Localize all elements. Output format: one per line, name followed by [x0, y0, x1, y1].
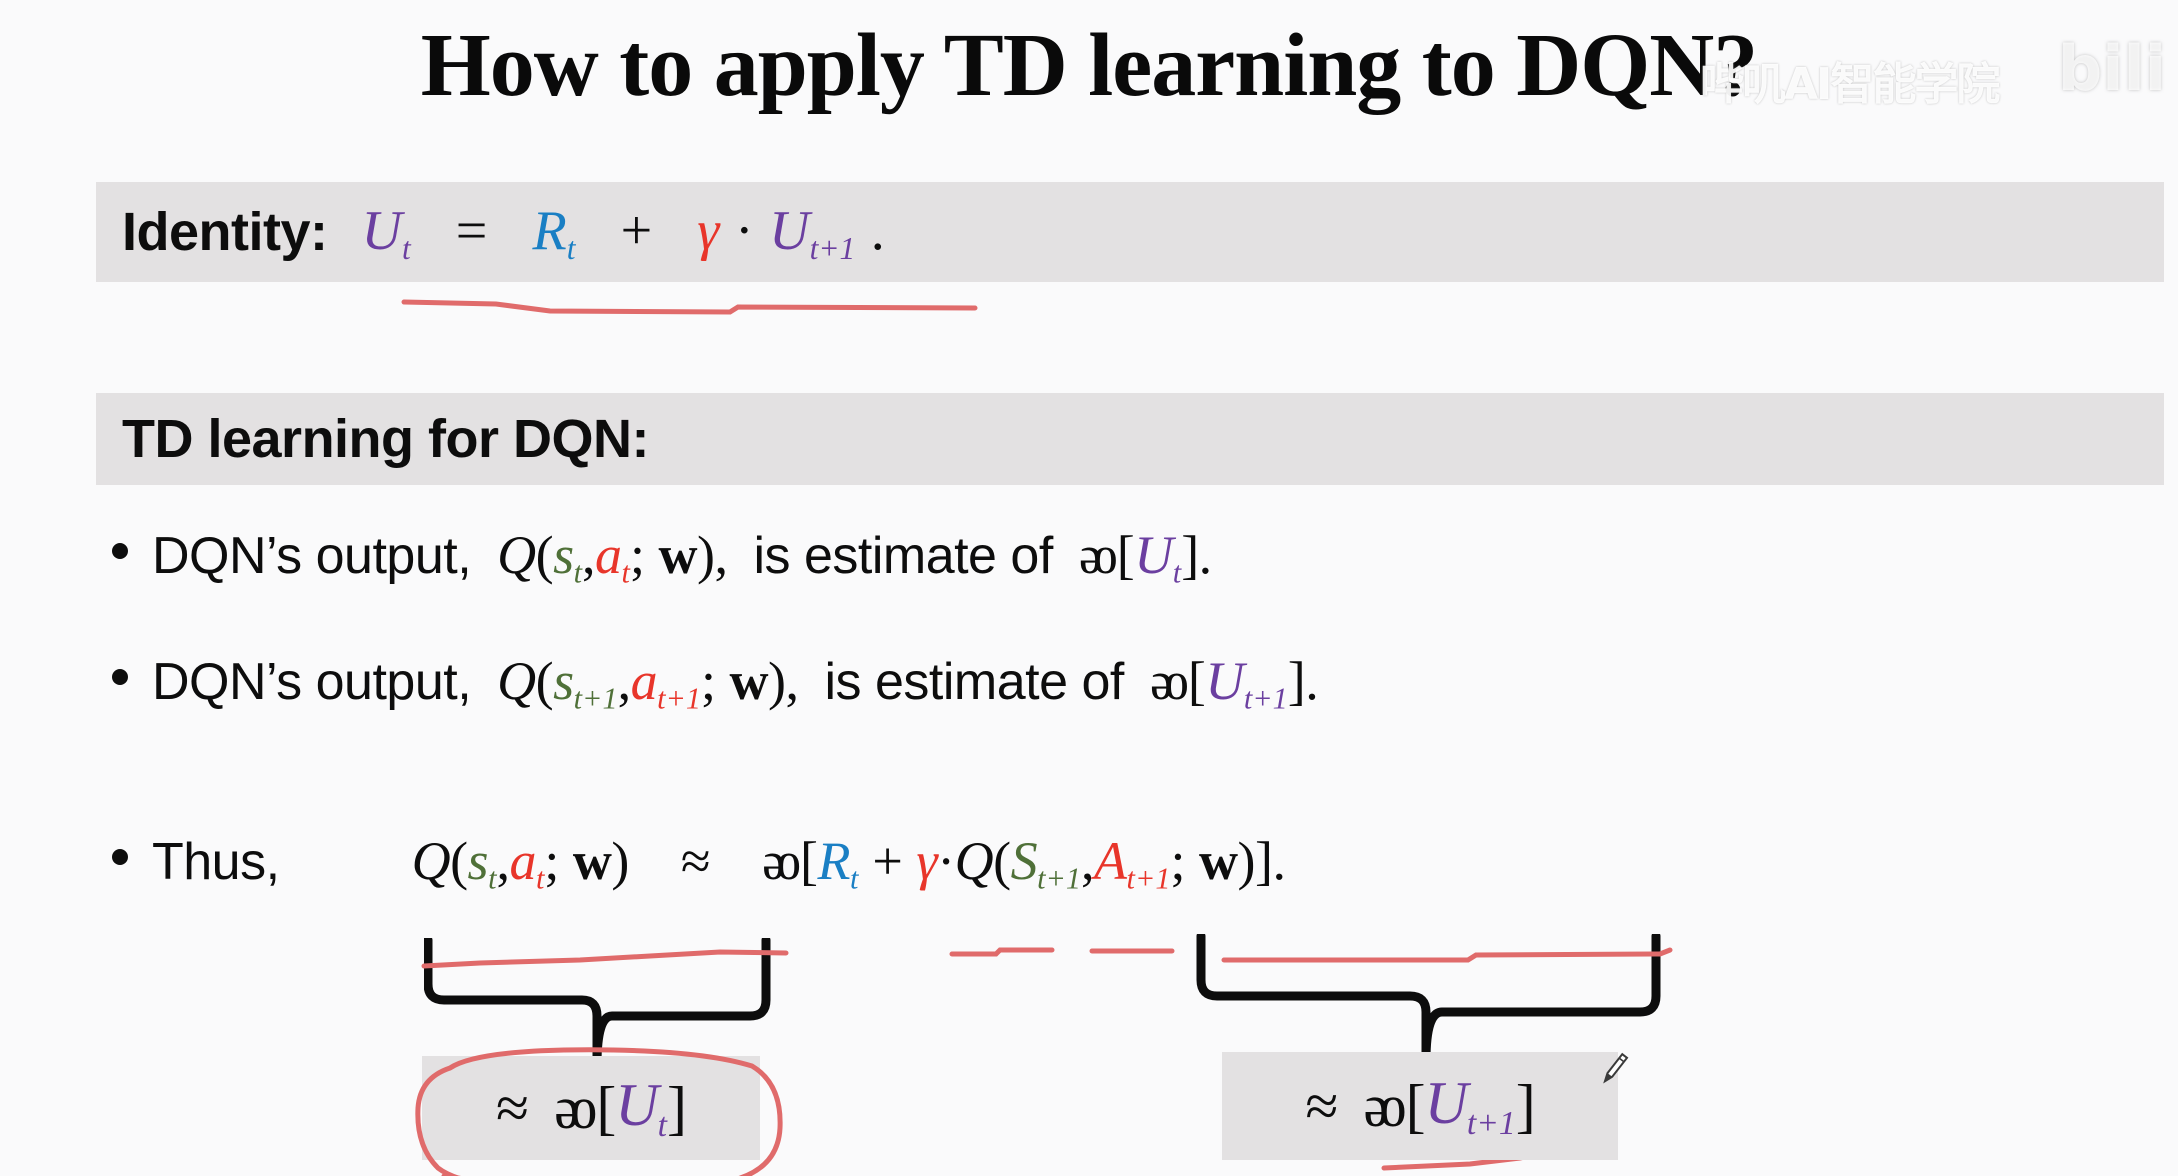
bullet-1-middle: is estimate of: [753, 526, 1052, 586]
right-approx: ≈: [1305, 1072, 1337, 1141]
identity-lhs-var: Ut: [362, 200, 411, 262]
identity-period: .: [871, 200, 885, 262]
underbrace-right: [1196, 934, 1666, 1064]
bullet-1-prefix: DQN’s output,: [152, 526, 471, 586]
left-close-bracket: ]: [667, 1074, 686, 1143]
bullet-1-expectation: ᴔ[Ut].: [1079, 524, 1212, 591]
bullet-2-middle: is estimate of: [824, 652, 1123, 712]
ink-underline-identity: [400, 292, 980, 328]
left-approx: ≈: [496, 1074, 528, 1143]
bullet-2-expectation: ᴔ[Ut+1].: [1150, 650, 1318, 717]
identity-banner: Identity: Ut = Rt + γ · Ut+1 .: [96, 182, 2164, 282]
bullet-marker-icon: [112, 543, 128, 559]
bullet-item-3: Thus, Q(st,at;w) ≈ ᴔ[Rt+γ·Q(St+1,At+1;w)…: [112, 830, 1285, 897]
td-learning-label: TD learning for DQN:: [122, 408, 649, 470]
right-expectation: ᴔ: [1363, 1072, 1405, 1141]
td-learning-banner: TD learning for DQN:: [96, 393, 2164, 485]
identity-formula: Ut = Rt + γ · Ut+1 .: [362, 197, 885, 267]
bullet-item-1: DQN’s output, Q(st,at;w), is estimate of…: [112, 524, 1212, 591]
right-open-bracket: [: [1406, 1072, 1425, 1141]
annotation-box-left: ≈ ᴔ [ Ut ]: [422, 1056, 760, 1160]
thus-prefix: Thus,: [152, 832, 280, 892]
left-open-bracket: [: [596, 1074, 615, 1143]
ink-underline-gamma: [1088, 938, 1178, 966]
identity-equals: =: [456, 200, 488, 262]
bullet-marker-icon: [112, 669, 128, 685]
left-utility-var: Ut: [615, 1071, 667, 1145]
identity-gamma: γ: [697, 200, 719, 262]
ink-underline-reward: [948, 938, 1058, 966]
bullet-item-2: DQN’s output, Q(st+1,at+1;w), is estimat…: [112, 650, 1318, 717]
underbrace-left: [424, 938, 774, 1068]
annotation-box-right: ≈ ᴔ [ Ut+1 ]: [1222, 1052, 1618, 1160]
identity-label: Identity:: [122, 201, 328, 263]
identity-reward-var: Rt: [533, 200, 576, 262]
slide-canvas: How to apply TD learning to DQN? 哔叽AI智能学…: [0, 0, 2178, 1176]
right-close-bracket: ]: [1516, 1072, 1535, 1141]
bullet-2-formula: Q(st+1,at+1;w),: [497, 650, 798, 717]
bullet-1-formula: Q(st,at;w),: [497, 524, 727, 591]
thus-approx: ≈: [681, 830, 710, 892]
bullet-2-prefix: DQN’s output,: [152, 652, 471, 712]
identity-dot: ·: [735, 200, 754, 262]
identity-plus: +: [621, 200, 653, 262]
right-utility-var: Ut+1: [1425, 1069, 1516, 1143]
page-title: How to apply TD learning to DQN?: [0, 14, 2178, 117]
identity-rhs-var: Ut+1: [769, 200, 855, 262]
pen-icon[interactable]: [1592, 1046, 1636, 1090]
thus-lhs-formula: Q(st,at;w): [412, 830, 629, 897]
thus-rhs-formula: ᴔ[Rt+γ·Q(St+1,At+1;w)].: [762, 830, 1285, 897]
bullet-marker-icon: [112, 849, 128, 865]
left-expectation: ᴔ: [554, 1074, 596, 1143]
